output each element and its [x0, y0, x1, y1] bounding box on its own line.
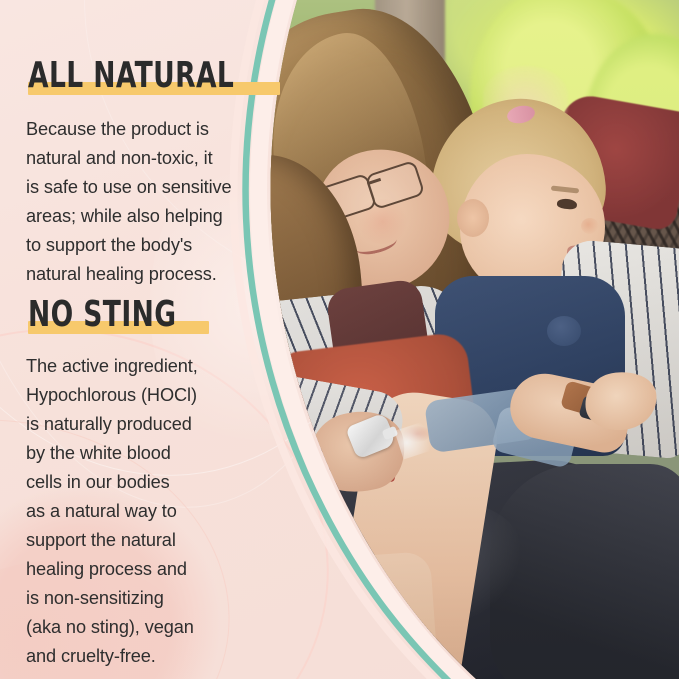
section-body-all-natural: Because the product is natural and non-t…: [26, 115, 288, 289]
infographic-canvas: ALL NATURAL Because the product is natur…: [0, 0, 679, 679]
section-heading-no-sting: NO STING: [28, 297, 209, 336]
text-column: ALL NATURAL Because the product is natur…: [0, 0, 300, 679]
toddler-outfit-knot: [547, 316, 581, 346]
toddler-ear: [457, 199, 489, 237]
toddler-nose: [581, 218, 599, 234]
heading-text: ALL NATURAL: [28, 58, 234, 97]
section-heading-all-natural: ALL NATURAL: [28, 58, 280, 97]
section-body-no-sting: The active ingredient, Hypochlorous (HOC…: [26, 352, 288, 671]
heading-text: NO STING: [28, 297, 176, 336]
